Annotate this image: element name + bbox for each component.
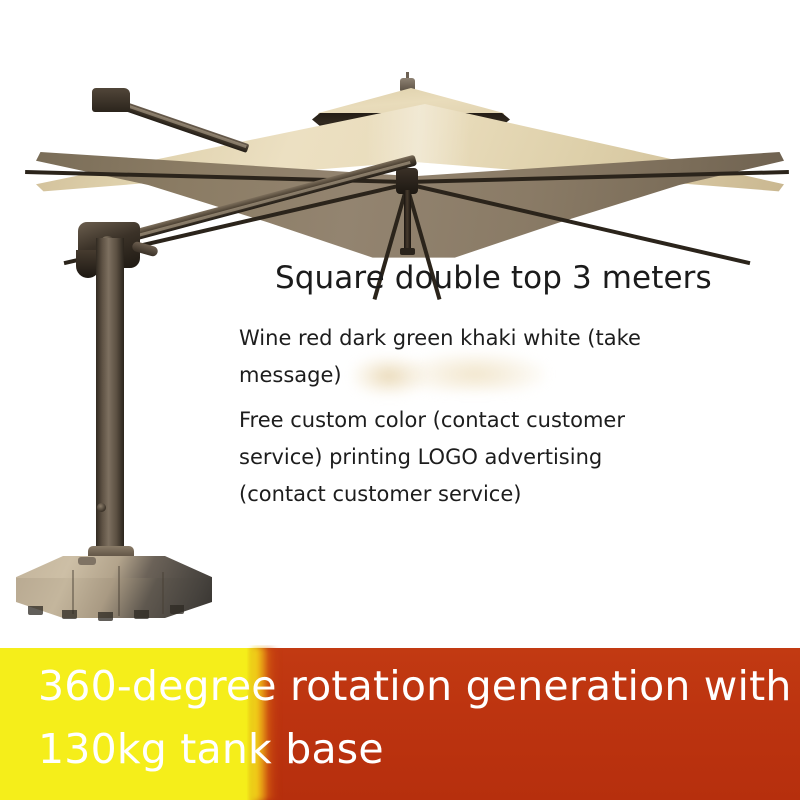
tank-base-fill-cap — [78, 557, 96, 565]
banner-caption-line-2: 130kg tank base — [38, 718, 778, 781]
tank-base-foot — [62, 610, 77, 619]
tank-base-foot — [98, 612, 113, 621]
tank-base-seam — [118, 566, 120, 616]
upper-support-arm-highlight — [112, 99, 247, 148]
tank-base-seam — [162, 572, 164, 614]
canopy-stem-cap — [400, 248, 415, 255]
tank-base-foot — [28, 606, 43, 615]
product-image-canvas: Square double top 3 meters Wine red dark… — [0, 0, 800, 800]
product-description: Wine red dark green khaki white (take me… — [239, 320, 659, 513]
banner-caption-line-1: 360-degree rotation generation with — [38, 655, 778, 718]
banner-caption: 360-degree rotation generation with 130k… — [38, 655, 778, 781]
tank-base-seam — [72, 570, 74, 614]
canopy-center-stem — [404, 190, 411, 252]
description-line-colors: Wine red dark green khaki white (take me… — [239, 320, 659, 394]
product-title: Square double top 3 meters — [275, 259, 712, 297]
tank-base-foot — [170, 605, 184, 614]
tank-base-foot — [134, 610, 149, 619]
description-line-custom: Free custom color (contact customer serv… — [239, 402, 659, 513]
pole-screw — [97, 503, 106, 512]
support-arm-head — [92, 88, 130, 112]
